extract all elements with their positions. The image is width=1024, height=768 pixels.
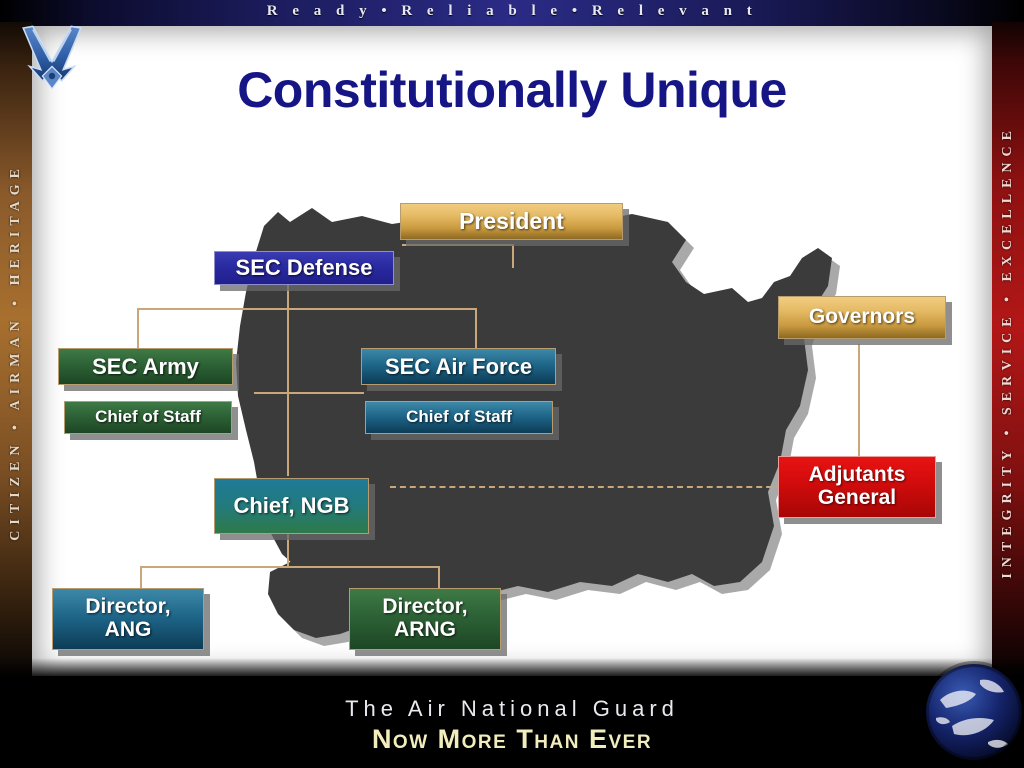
earth-globe-icon: [922, 656, 1022, 766]
connector-governors-to-tags: [858, 344, 860, 472]
usaf-wings-icon: [12, 20, 92, 100]
org-node-sec-air-force-label: SEC Air Force: [385, 355, 532, 379]
org-node-director-ang-label-line1: Director,: [85, 596, 170, 619]
org-node-governors[interactable]: Governors: [778, 296, 946, 339]
connector-to-sec-army: [137, 308, 139, 348]
connector-president-down: [512, 244, 514, 268]
org-node-sec-defense-label: SEC Defense: [236, 256, 373, 280]
org-node-chief-ngb-label: Chief, NGB: [233, 494, 349, 518]
page-title: Constitutionally Unique: [32, 61, 992, 119]
org-node-sec-army[interactable]: SEC Army: [58, 348, 233, 385]
org-node-director-ang-label-line2: ANG: [105, 619, 152, 642]
org-node-director-arng[interactable]: Director, ARNG: [349, 588, 501, 650]
bottom-banner-line2: Now More Than Ever: [0, 724, 1024, 755]
org-node-director-arng-label-line2: ARNG: [394, 619, 456, 642]
org-node-adjutants-general[interactable]: Adjutants General: [778, 456, 936, 518]
bottom-banner: The Air National Guard Now More Than Eve…: [0, 676, 1024, 768]
connector-to-sec-air-force: [475, 308, 477, 348]
right-rail: INTEGRITY • SERVICE • EXCELLENCE: [992, 22, 1024, 682]
slide-stage: R e a d y • R e l i a b l e • R e l e v …: [0, 0, 1024, 768]
org-node-president[interactable]: President: [400, 203, 623, 240]
slide-body: Constitutionally Unique President: [32, 26, 992, 676]
org-node-adjutants-general-label-line2: General: [818, 487, 896, 510]
top-banner: R e a d y • R e l i a b l e • R e l e v …: [0, 0, 1024, 26]
connector-ngb-tags-dashed: [390, 486, 782, 488]
top-banner-slogan: R e a d y • R e l i a b l e • R e l e v …: [0, 3, 1024, 20]
org-node-governors-label: Governors: [809, 306, 915, 329]
connector-president-to-secdef: [402, 244, 514, 246]
org-node-sec-defense[interactable]: SEC Defense: [214, 251, 394, 285]
org-node-af-chief-of-staff[interactable]: Chief of Staff: [365, 401, 553, 434]
org-node-president-label: President: [459, 209, 564, 234]
connector-directors-bar: [140, 566, 440, 568]
org-node-af-chief-of-staff-label: Chief of Staff: [406, 408, 512, 426]
left-rail-text: CITIZEN • AIRMAN • HERITAGE: [8, 163, 24, 541]
org-node-director-ang[interactable]: Director, ANG: [52, 588, 204, 650]
org-node-director-arng-label-line1: Director,: [382, 596, 467, 619]
connector-cos-crossbar: [254, 392, 364, 394]
connector-trunk-to-ngb: [287, 340, 289, 476]
org-node-sec-air-force[interactable]: SEC Air Force: [361, 348, 556, 385]
right-rail-text: INTEGRITY • SERVICE • EXCELLENCE: [1000, 125, 1016, 579]
org-node-army-chief-of-staff-label: Chief of Staff: [95, 408, 201, 426]
org-node-army-chief-of-staff[interactable]: Chief of Staff: [64, 401, 232, 434]
bottom-banner-line1: The Air National Guard: [0, 696, 1024, 722]
org-node-sec-army-label: SEC Army: [92, 355, 199, 379]
org-node-adjutants-general-label-line1: Adjutants: [809, 464, 906, 487]
connector-ngb-down: [287, 534, 289, 568]
bottom-fade: [0, 658, 1024, 676]
left-rail: CITIZEN • AIRMAN • HERITAGE: [0, 22, 32, 682]
connector-secdef-bar: [137, 308, 477, 310]
org-node-chief-ngb[interactable]: Chief, NGB: [214, 478, 369, 534]
